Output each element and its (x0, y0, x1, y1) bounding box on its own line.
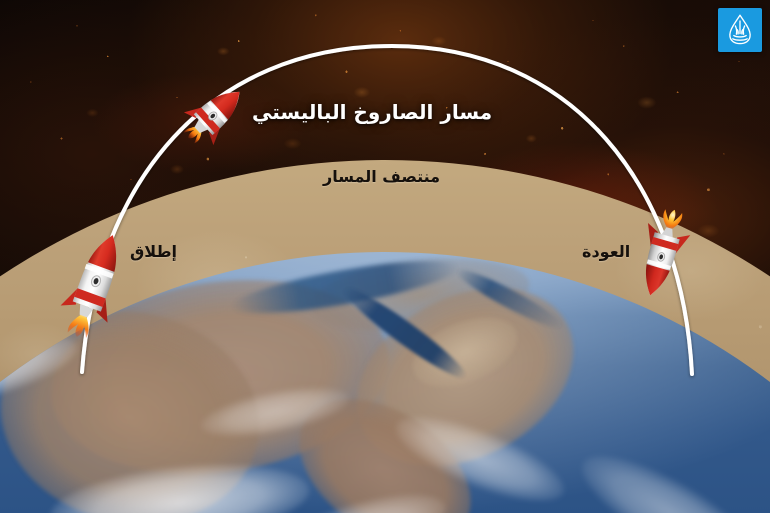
page-title: مسار الصاروخ الباليستي (252, 100, 492, 124)
label-midcourse: منتصف المسار (323, 167, 440, 186)
al-jazeera-logo[interactable] (718, 8, 762, 52)
al-jazeera-logo-icon (724, 13, 756, 47)
infographic-canvas: مسار الصاروخ الباليستي منتصف المسار إطلا… (0, 0, 770, 513)
label-reentry: العودة (582, 242, 630, 261)
label-launch: إطلاق (130, 242, 177, 261)
